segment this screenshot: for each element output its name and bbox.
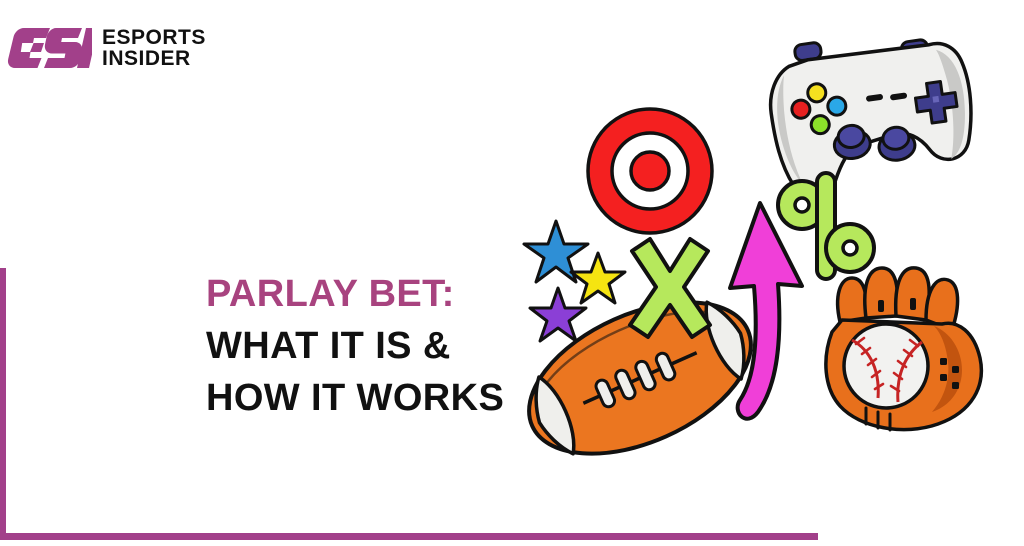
target-icon [588, 109, 712, 233]
logo-wordmark-line-2: INSIDER [102, 48, 206, 69]
baseball-glove-icon [826, 268, 981, 430]
graphic-canvas: ESPORTS INSIDER PARLAY BET: WHAT IT IS &… [0, 0, 1024, 546]
headline-block: PARLAY BET: WHAT IT IS & HOW IT WORKS [206, 268, 546, 424]
headline-line-3: HOW IT WORKS [206, 372, 546, 424]
headline-line-1: PARLAY BET: [206, 268, 546, 320]
up-arrow-icon [730, 203, 802, 419]
bottom-horizontal-rule [0, 533, 818, 540]
football-icon [510, 272, 774, 485]
headline-line-2: WHAT IT IS & [206, 320, 546, 372]
logo-wordmark: ESPORTS INSIDER [102, 27, 206, 70]
game-controller-icon [762, 22, 981, 201]
star-yellow-icon [571, 253, 625, 303]
sports-gaming-illustration [510, 8, 1010, 498]
esi-monogram-icon [6, 24, 92, 72]
star-purple-icon [530, 288, 586, 341]
esports-insider-logo[interactable]: ESPORTS INSIDER [6, 24, 206, 72]
left-vertical-rule [0, 268, 6, 540]
logo-wordmark-line-1: ESPORTS [102, 27, 206, 48]
